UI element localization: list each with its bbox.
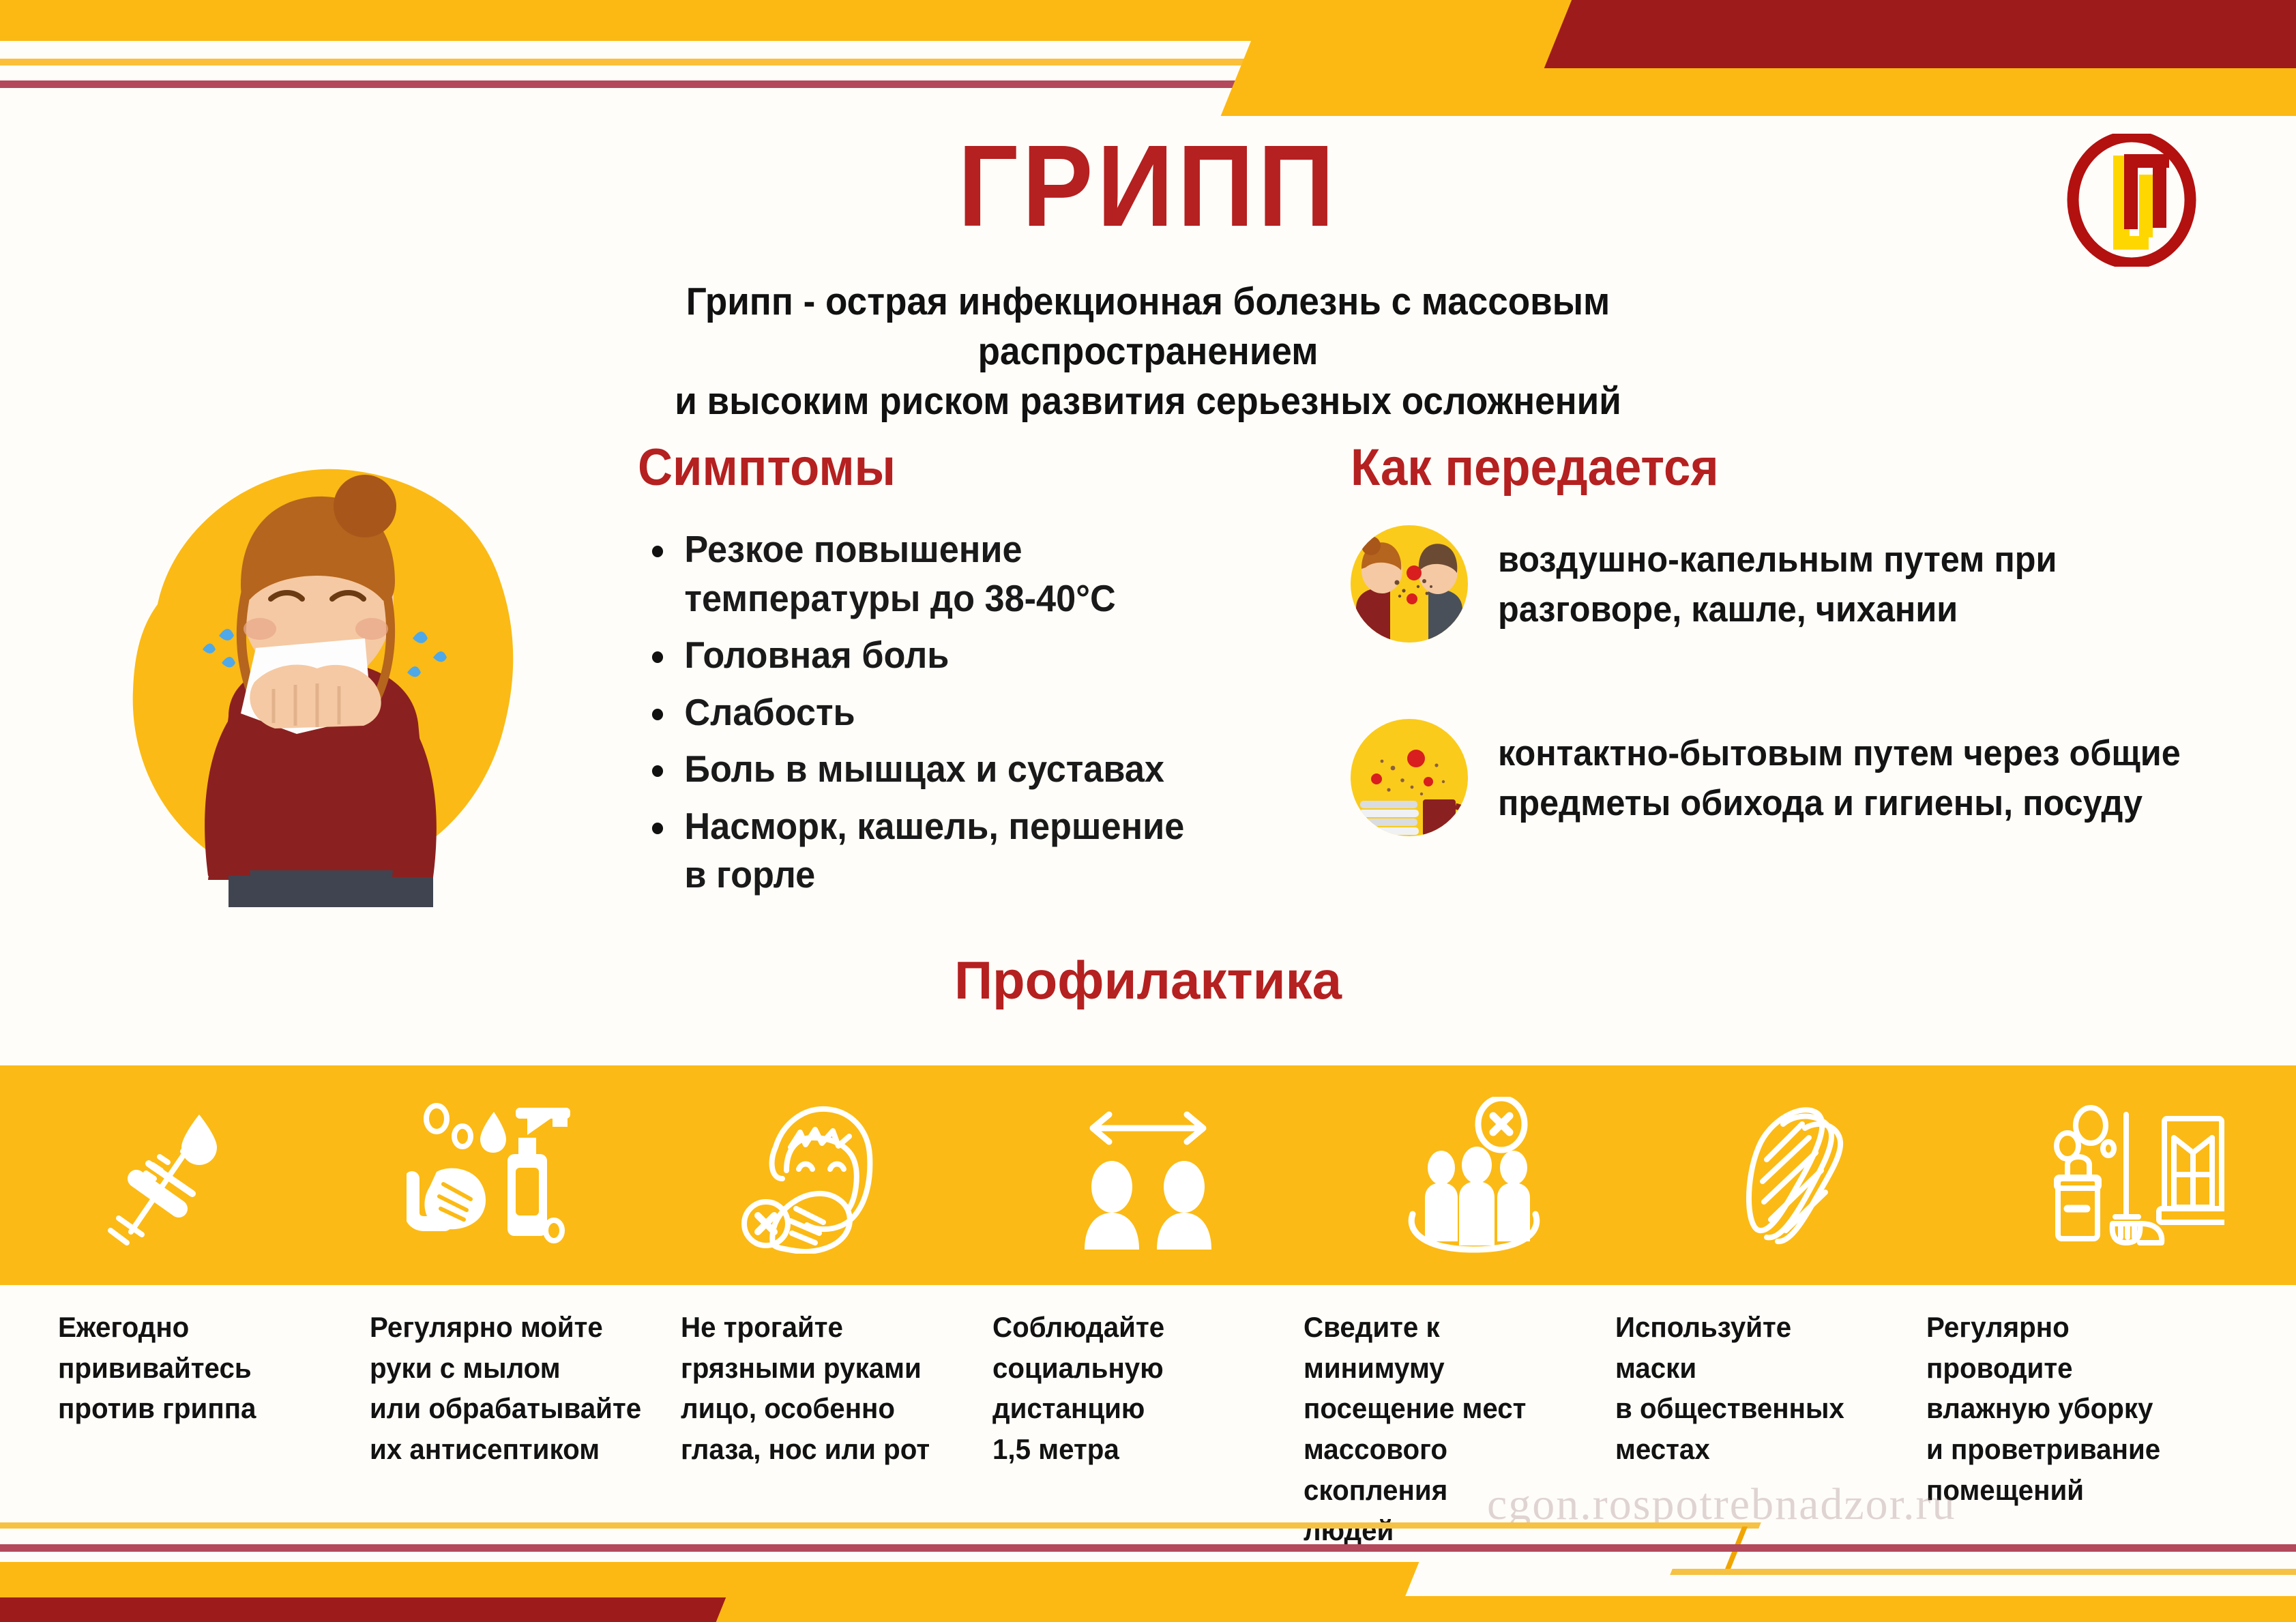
top-yellow-stripe-left [0, 0, 1292, 41]
subtitle-line-1: Грипп - острая инфекционная болезнь с ма… [514, 277, 1782, 377]
bottom-yellow-stripe-right [1007, 1596, 2296, 1622]
woman-sneezing-illustration [92, 430, 583, 907]
bottom-red-stripe [0, 1597, 726, 1622]
header: ГРИПП Грипп - острая инфекционная болезн… [0, 109, 2296, 426]
two-people-talking-droplets-icon [1351, 525, 1468, 643]
prevention-heading: Профилактика [0, 954, 2296, 1007]
top-thin-yellow-line [0, 59, 1297, 65]
list-item: Резкое повышение температуры до 38-40°C [638, 525, 1202, 623]
influenza-infographic-poster: ГРИПП Грипп - острая инфекционная болезн… [0, 0, 2296, 1622]
prevention-caption: Ежегодно прививайтесь против гриппа [58, 1307, 357, 1551]
subtitle-line-2: и высоким риском развития серьезных осло… [514, 377, 1782, 426]
bottom-thin-yellow-line [0, 1522, 1761, 1529]
bottom-thin-red-line [0, 1544, 2296, 1552]
face-mask-icon [1640, 1065, 1968, 1285]
list-item: Слабость [638, 688, 1202, 737]
page-subtitle: Грипп - острая инфекционная болезнь с ма… [514, 277, 1782, 426]
transmission-item-text: контактно-бытовым путем через общие пред… [1498, 719, 2188, 828]
transmission-heading: Как передается [1351, 442, 2162, 494]
prevention-caption: Регулярно мойте руки с мылом или обрабат… [370, 1307, 668, 1551]
no-touch-face-icon [656, 1065, 984, 1285]
symptoms-section: Симптомы Резкое повышение температуры до… [638, 442, 1231, 908]
prevention-caption: Регулярно проводите влажную уборку и про… [1926, 1307, 2225, 1551]
list-item: Насморк, кашель, першение в горле [638, 802, 1202, 900]
transmission-item: воздушно-капельным путем при разговоре, … [1351, 525, 2224, 643]
prevention-icons-row [0, 1065, 2296, 1285]
transmission-section: Как передается [1351, 442, 2224, 836]
prevention-caption: Соблюдайте социальную дистанцию 1,5 метр… [992, 1307, 1291, 1551]
bottom-thin-yellow-line-right [1670, 1569, 2296, 1575]
list-item: Боль в мышцах и суставах [638, 745, 1202, 794]
prevention-caption: Не трогайте грязными руками лицо, особен… [681, 1307, 980, 1551]
page-title: ГРИПП [92, 109, 2205, 244]
top-red-stripe [1544, 0, 2296, 68]
center-of-hygiene-logo [2053, 134, 2210, 267]
no-crowds-icon [1312, 1065, 1640, 1285]
social-distance-icon [984, 1065, 1312, 1285]
logo-icon [2053, 134, 2210, 267]
transmission-item: контактно-бытовым путем через общие пред… [1351, 719, 2224, 836]
syringe-vaccine-icon [0, 1065, 328, 1285]
cleaning-ventilation-icon [1968, 1065, 2296, 1285]
sneezing-woman-icon [92, 430, 583, 907]
dishes-and-mug-icon [1351, 719, 1468, 836]
transmission-item-text: воздушно-капельным путем при разговоре, … [1498, 525, 2188, 634]
symptoms-heading: Симптомы [638, 442, 1190, 494]
handwash-soap-icon [328, 1065, 656, 1285]
list-item: Головная боль [638, 631, 1202, 680]
symptoms-list: Резкое повышение температуры до 38-40°C … [638, 525, 1231, 900]
